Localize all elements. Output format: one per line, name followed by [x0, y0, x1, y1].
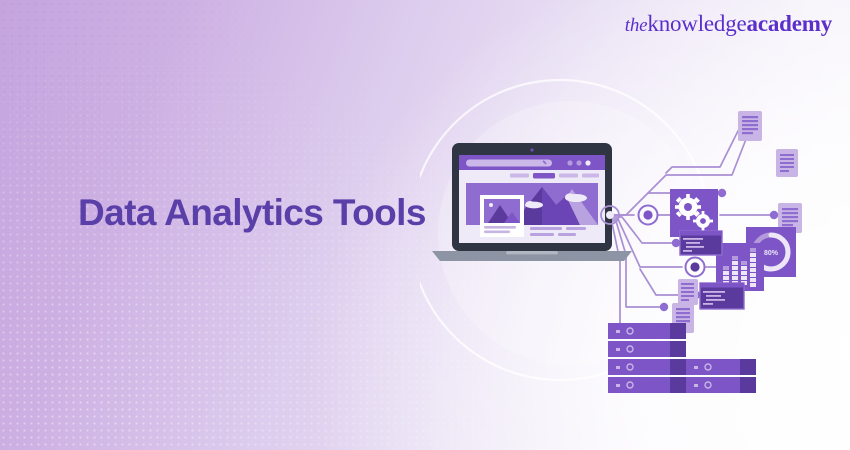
page-title: Data Analytics Tools — [78, 192, 426, 233]
logo-academy: academy — [747, 11, 832, 36]
logo-knowledge: knowledge — [647, 11, 746, 36]
server-unit-left-2 — [608, 341, 686, 357]
illustration-container: 80% — [420, 55, 850, 415]
document-icon-1 — [738, 111, 762, 141]
node-dot-mid — [770, 211, 778, 219]
image-card — [480, 195, 524, 237]
server-unit-right-1 — [686, 359, 756, 375]
server-unit-left-1 — [608, 323, 686, 339]
search-field — [466, 160, 552, 167]
node-dot-top — [718, 189, 726, 197]
server-unit-left-4 — [608, 377, 686, 393]
laptop-device — [432, 143, 632, 261]
document-icon-4 — [678, 279, 698, 305]
settings-gear-tile — [670, 189, 718, 237]
window-dots — [567, 160, 590, 165]
server-unit-right-2 — [686, 377, 756, 393]
brand-logo[interactable]: theknowledgeacademy — [625, 12, 832, 35]
node-dot-code — [672, 239, 680, 247]
code-window-tile-bottom — [700, 283, 744, 309]
code-window-tile-top — [680, 231, 722, 255]
banner-root: theknowledgeacademy Data Analytics Tools — [0, 0, 850, 450]
progress-ring-label: 80% — [764, 250, 779, 257]
server-rack-stack — [608, 323, 756, 393]
server-unit-left-3 — [608, 359, 686, 375]
logo-the: the — [625, 15, 648, 36]
document-icon-2 — [776, 149, 798, 177]
node-dot-doc — [660, 303, 668, 311]
